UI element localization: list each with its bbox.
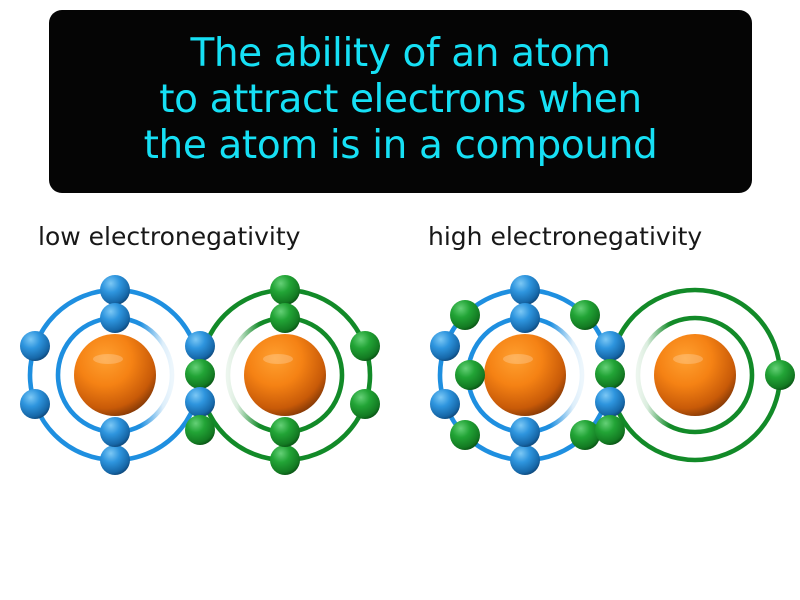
gained-electron-green [450, 300, 480, 330]
nucleus [244, 334, 326, 416]
electron-blue [100, 275, 130, 305]
gained-electron-green [570, 420, 600, 450]
electron-blue [100, 303, 130, 333]
nucleus [74, 334, 156, 416]
atom-right-green-low [200, 275, 380, 475]
nucleus [654, 334, 736, 416]
electron-green [270, 445, 300, 475]
nucleus-highlight [673, 354, 703, 364]
caption-low-electronegativity: low electronegativity [38, 222, 300, 251]
shared-electron-green [185, 415, 215, 445]
electron-blue [20, 389, 50, 419]
shared-electron-green [185, 359, 215, 389]
gained-electron-green [450, 420, 480, 450]
definition-card: The ability of an atom to attract electr… [49, 10, 752, 193]
diagram-canvas: The ability of an atom to attract electr… [0, 0, 800, 600]
atom-pair-low-electronegativity [8, 258, 408, 488]
electron-blue [510, 303, 540, 333]
electron-green [765, 360, 795, 390]
shared-electron-blue [185, 387, 215, 417]
electron-blue [510, 275, 540, 305]
nucleus [484, 334, 566, 416]
gained-electron-green [455, 360, 485, 390]
atom-pair-high-electronegativity [400, 258, 800, 488]
shared-electron-group-high [595, 331, 625, 445]
definition-line-2: to attract electrons when [159, 77, 641, 123]
electron-blue [430, 389, 460, 419]
electron-blue [510, 445, 540, 475]
electron-green [350, 389, 380, 419]
electron-green [270, 275, 300, 305]
atom-right-green-high [610, 290, 795, 460]
caption-high-electronegativity: high electronegativity [428, 222, 702, 251]
electron-blue [510, 417, 540, 447]
shared-electron-green [595, 359, 625, 389]
shared-electron-group-low [185, 331, 215, 445]
shared-electron-green [595, 415, 625, 445]
nucleus-highlight [503, 354, 533, 364]
electron-green [350, 331, 380, 361]
shared-electron-blue [595, 331, 625, 361]
electron-blue [100, 445, 130, 475]
shared-electron-blue [595, 387, 625, 417]
nucleus-highlight [263, 354, 293, 364]
definition-line-1: The ability of an atom [190, 31, 610, 77]
electron-blue [430, 331, 460, 361]
electron-blue [100, 417, 130, 447]
shared-electron-blue [185, 331, 215, 361]
electron-green [270, 303, 300, 333]
gained-electron-green [570, 300, 600, 330]
atom-left-blue-high [430, 275, 610, 475]
definition-line-3: the atom is in a compound [144, 123, 658, 169]
nucleus-highlight [93, 354, 123, 364]
electron-green [270, 417, 300, 447]
electron-blue [20, 331, 50, 361]
atom-left-blue-low [20, 275, 200, 475]
